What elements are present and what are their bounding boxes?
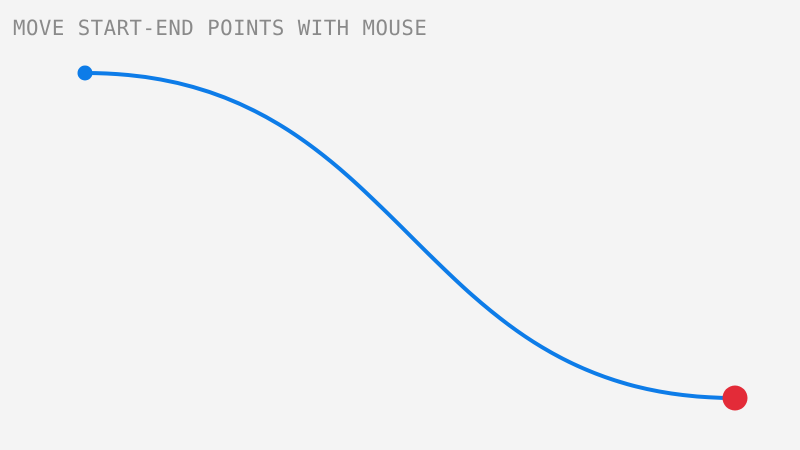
start-point-handle[interactable] — [78, 66, 93, 81]
bezier-canvas-stage[interactable]: MOVE START-END POINTS WITH MOUSE — [0, 0, 800, 450]
end-point-handle[interactable] — [723, 386, 748, 411]
bezier-curve-svg — [0, 0, 800, 450]
bezier-curve-path — [85, 73, 735, 398]
